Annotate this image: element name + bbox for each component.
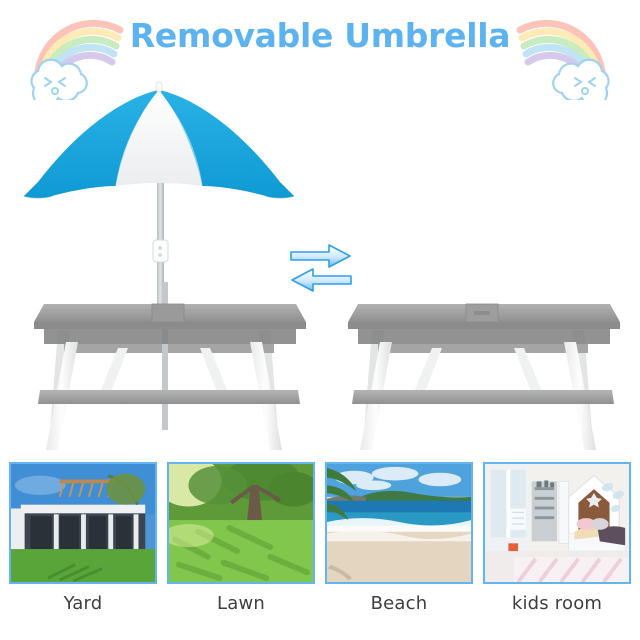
umbrella-hole bbox=[152, 304, 184, 322]
arrow-right-icon bbox=[291, 245, 350, 267]
rainbow-cloud-icon-right bbox=[512, 8, 632, 100]
table-top-edge bbox=[348, 322, 620, 329]
scene-label: Yard bbox=[9, 593, 157, 614]
table-apron bbox=[358, 329, 610, 344]
table-brace-left bbox=[414, 348, 442, 394]
table-apron bbox=[44, 329, 296, 344]
table-brace-right bbox=[514, 348, 542, 394]
scene-label: Lawn bbox=[167, 593, 315, 614]
bench-far bbox=[64, 344, 274, 353]
usage-scene-strip: Yard bbox=[0, 462, 640, 640]
table-top-edge bbox=[34, 322, 306, 329]
beach-shore-photo[interactable] bbox=[325, 462, 473, 584]
umbrella-tilt-joint bbox=[153, 240, 168, 262]
kids-picnic-table-with-umbrella[interactable] bbox=[22, 282, 318, 462]
scene-label: kids room bbox=[483, 593, 631, 614]
scene-lawn[interactable]: Lawn bbox=[167, 462, 315, 640]
scene-kids-room[interactable]: kids room bbox=[483, 462, 631, 640]
bench-near bbox=[352, 390, 614, 404]
kids-bedroom-photo[interactable] bbox=[483, 462, 631, 584]
umbrella-finial-cap bbox=[156, 82, 162, 92]
tree-lawn-photo[interactable] bbox=[167, 462, 315, 584]
scene-label: Beach bbox=[325, 593, 473, 614]
table-brace-left bbox=[100, 348, 128, 394]
cloud-face-icon bbox=[553, 60, 608, 100]
scene-yard[interactable]: Yard bbox=[9, 462, 157, 640]
scene-beach[interactable]: Beach bbox=[325, 462, 473, 640]
bench-far bbox=[378, 344, 588, 353]
table-brace-right bbox=[200, 348, 228, 394]
product-feature-poster: Removable Umbrella bbox=[0, 0, 640, 640]
hole-cap-handle bbox=[474, 311, 490, 315]
kids-picnic-table-plain[interactable] bbox=[336, 282, 632, 462]
bench-near bbox=[38, 390, 300, 404]
house-yard-photo[interactable] bbox=[9, 462, 157, 584]
